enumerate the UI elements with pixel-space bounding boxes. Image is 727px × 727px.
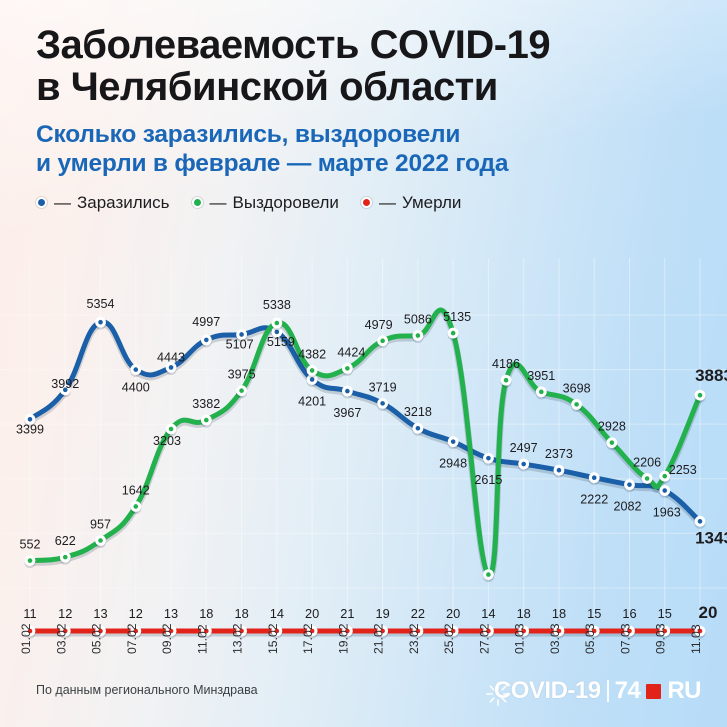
data-label: 5086 [404, 313, 432, 327]
blue-dot-icon [36, 197, 47, 208]
data-label: 4400 [122, 381, 150, 395]
data-label: 5107 [226, 337, 254, 351]
chart-area: 3399399253544400444349975107515942013967… [0, 258, 727, 658]
chart-legend: — Заразились — Выздоровели — Умерли [36, 193, 697, 213]
data-label: 18 [517, 606, 531, 621]
legend-dash: — [210, 193, 227, 213]
data-label: 3698 [563, 381, 591, 395]
data-label: 3967 [333, 406, 361, 420]
x-tick-label: 01.02 [19, 623, 33, 654]
data-label: 2497 [510, 441, 538, 455]
data-label: 2373 [545, 447, 573, 461]
data-label: 13 [93, 606, 107, 621]
data-label: 21 [340, 606, 354, 621]
x-tick-label: 23.02 [407, 623, 421, 654]
page-title: Заболеваемость COVID-19 в Челябинской об… [36, 24, 697, 109]
data-label: 2928 [598, 420, 626, 434]
data-label: 552 [19, 538, 40, 552]
data-label: 1343 [695, 528, 727, 547]
data-label: 4186 [492, 357, 520, 371]
x-tick-label: 03.02 [54, 623, 68, 654]
data-label: 4997 [192, 315, 220, 329]
data-label: 4201 [298, 394, 326, 408]
data-label: 18 [234, 606, 248, 621]
data-label: 5338 [263, 298, 291, 312]
x-tick-label: 17.02 [301, 623, 315, 654]
data-label: 4382 [298, 347, 326, 361]
data-label: 5159 [267, 335, 295, 349]
data-label: 12 [58, 606, 72, 621]
data-label: 4443 [157, 350, 185, 364]
data-label: 3719 [369, 380, 397, 394]
logo-red-square-icon [646, 684, 661, 699]
x-tick-label: 25.02 [442, 623, 456, 654]
legend-item-died: — Умерли [361, 193, 461, 213]
data-label: 20 [305, 606, 319, 621]
data-label: 1963 [653, 506, 681, 520]
covid-line-chart: 3399399253544400444349975107515942013967… [0, 258, 727, 658]
data-label: 3992 [51, 377, 79, 391]
data-label: 11 [23, 606, 36, 621]
x-tick-label: 15.02 [266, 623, 280, 654]
red-dot-icon [361, 197, 372, 208]
data-label: 4979 [365, 318, 393, 332]
x-tick-label: 03.03 [548, 623, 562, 654]
data-label: 18 [199, 606, 213, 621]
legend-label-infected: Заразились [77, 193, 170, 213]
data-label: 2206 [633, 455, 661, 469]
legend-item-recovered: — Выздоровели [192, 193, 339, 213]
x-tick-label: 19.02 [336, 623, 350, 654]
data-label: 957 [90, 517, 111, 531]
green-dot-icon [192, 197, 203, 208]
data-label: 16 [622, 606, 636, 621]
logo-divider [607, 680, 609, 702]
data-label: 3382 [192, 397, 220, 411]
logo-ru-text: RU [667, 677, 701, 705]
data-label: 14 [270, 606, 284, 621]
chart-gridlines [0, 258, 727, 618]
header: Заболеваемость COVID-19 в Челябинской об… [0, 0, 727, 213]
footer: По данным регионального Минздрава COVID-… [0, 665, 727, 727]
virus-sunburst-icon [485, 681, 511, 707]
data-label: 5135 [443, 310, 471, 324]
data-label: 20 [699, 603, 718, 622]
legend-dash: — [379, 193, 396, 213]
data-label: 22 [411, 606, 425, 621]
x-tick-label: 13.02 [231, 623, 245, 654]
site-logo[interactable]: COVID-19 74 RU [494, 677, 701, 705]
x-tick-label: 27.02 [477, 623, 491, 654]
data-label: 15 [587, 606, 601, 621]
data-label: 3218 [404, 405, 432, 419]
data-label: 2948 [439, 457, 467, 471]
x-tick-label: 07.03 [618, 623, 632, 654]
data-label: 12 [129, 606, 143, 621]
data-label: 3399 [16, 422, 44, 436]
data-label: 2222 [580, 493, 608, 507]
source-note: По данным регионального Минздрава [36, 683, 258, 697]
legend-label-died: Умерли [402, 193, 461, 213]
data-label: 20 [446, 606, 460, 621]
x-tick-label: 11.02 [195, 624, 209, 654]
data-label: 3951 [527, 369, 555, 383]
data-label: 3883 [695, 366, 727, 385]
data-label: 3975 [228, 368, 256, 382]
x-tick-label: 05.03 [583, 623, 597, 654]
x-tick-label: 05.02 [90, 623, 104, 654]
data-label: 13 [164, 606, 178, 621]
data-label: 18 [552, 606, 566, 621]
x-axis-labels: 01.0203.0205.0207.0209.0211.0213.0215.02… [19, 623, 703, 654]
data-label: 2253 [669, 463, 697, 477]
legend-item-infected: — Заразились [36, 193, 170, 213]
x-tick-label: 09.03 [654, 623, 668, 654]
x-tick-label: 01.03 [513, 623, 527, 654]
legend-label-recovered: Выздоровели [233, 193, 339, 213]
legend-dash: — [54, 193, 71, 213]
x-tick-label: 11.03 [689, 624, 703, 654]
data-label: 19 [376, 606, 390, 621]
x-tick-label: 07.02 [125, 623, 139, 654]
logo-74-text: 74 [615, 677, 641, 705]
data-label: 2082 [613, 500, 641, 514]
x-tick-label: 09.02 [160, 623, 174, 654]
data-label: 14 [481, 606, 495, 621]
data-label: 622 [55, 534, 76, 548]
page-subtitle: Сколько заразились, выздоровели и умерли… [36, 121, 697, 179]
data-label: 4424 [337, 345, 365, 359]
data-label: 2615 [474, 473, 502, 487]
data-label: 15 [658, 606, 672, 621]
data-label: 3203 [153, 434, 181, 448]
data-label: 1642 [122, 483, 150, 497]
data-label: 5354 [87, 297, 115, 311]
x-tick-label: 21.02 [372, 623, 386, 654]
labels-died: 1112131213181814202119222014181815161520 [23, 603, 717, 622]
